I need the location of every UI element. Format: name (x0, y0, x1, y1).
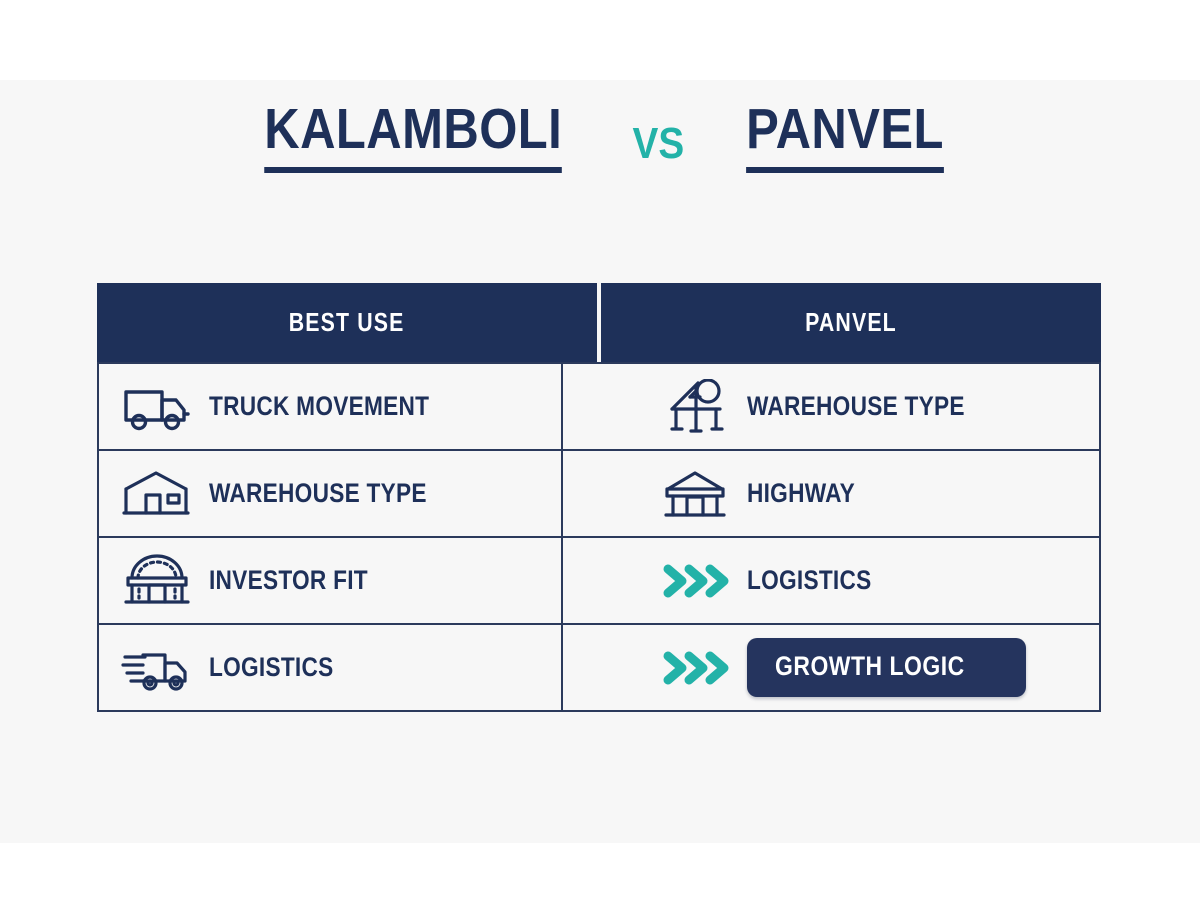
table-cell-right: HIGHWAY (561, 451, 1099, 536)
table-header-label-right: PANVEL (805, 307, 897, 338)
table-body: TRUCK MOVEMENT (97, 362, 1101, 712)
infographic-stage: KALAMBOLI VS PANVEL BEST USE PANVEL (0, 0, 1200, 900)
triple-chevron-icon (659, 552, 731, 610)
table-cell-left: TRUCK MOVEMENT (99, 364, 561, 449)
table-cell-label: TRUCK MOVEMENT (209, 391, 429, 422)
box-truck-icon (121, 378, 193, 436)
table-row: WAREHOUSE TYPE HIGHWAY (99, 449, 1099, 536)
table-cell-label: INVESTOR FIT (209, 565, 368, 596)
delivery-truck-motion-icon (121, 639, 193, 697)
comparison-title: KALAMBOLI VS PANVEL (0, 100, 1200, 173)
gantry-crane-icon (659, 378, 731, 436)
table-cell-right: GROWTH LOGIC (561, 625, 1099, 710)
table-header-row: BEST USE PANVEL (97, 283, 1101, 362)
table-cell-right: WAREHOUSE TYPE (561, 364, 1099, 449)
table-row: INVESTOR FIT LOGISTICS (99, 536, 1099, 623)
table-header-cell-right: PANVEL (601, 283, 1101, 362)
table-cell-label: WAREHOUSE TYPE (747, 391, 965, 422)
table-cell-left: LOGISTICS (99, 625, 561, 710)
letterbox-band-top (0, 0, 1200, 80)
comparison-table: BEST USE PANVEL (97, 283, 1101, 712)
title-versus-separator: VS (595, 119, 721, 169)
table-cell-left: INVESTOR FIT (99, 538, 561, 623)
status-badge-label: GROWTH LOGIC (775, 651, 965, 682)
table-cell-right: LOGISTICS (561, 538, 1099, 623)
warehouse-barn-icon (121, 465, 193, 523)
table-cell-label: LOGISTICS (747, 565, 872, 596)
table-header-cell-left: BEST USE (97, 283, 597, 362)
triple-chevron-icon (659, 639, 731, 697)
title-left-location: KALAMBOLI (265, 100, 563, 173)
table-cell-left: WAREHOUSE TYPE (99, 451, 561, 536)
table-row: TRUCK MOVEMENT (99, 362, 1099, 449)
columned-building-icon (659, 465, 731, 523)
title-right-location: PANVEL (746, 100, 944, 173)
letterbox-band-bottom (0, 843, 1200, 900)
table-row: LOGISTICS GROWTH LOGIC (99, 623, 1099, 710)
table-header-label-left: BEST USE (289, 307, 405, 338)
dome-building-icon (121, 552, 193, 610)
table-cell-label: HIGHWAY (747, 478, 855, 509)
status-badge[interactable]: GROWTH LOGIC (747, 638, 1026, 697)
table-cell-label: LOGISTICS (209, 652, 334, 683)
table-cell-label: WAREHOUSE TYPE (209, 478, 427, 509)
